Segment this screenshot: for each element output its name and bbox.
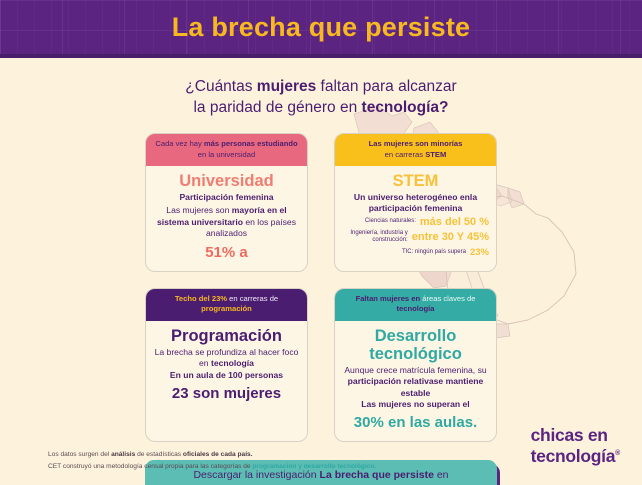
cta-text-c: en <box>434 469 449 481</box>
footer-line2-a: CET construyó una metodología censal pro… <box>48 463 252 470</box>
card-programacion-stat: 23 son mujeres <box>153 384 300 403</box>
card-universidad-stat: 51% a <box>153 243 300 262</box>
card-desarrollo-head-c: tecnología <box>397 304 435 313</box>
card-universidad-head-a: Cada vez hay <box>155 139 204 148</box>
card-stem-head-a: Las mujeres son minorías <box>369 139 463 148</box>
card-universidad-text-a: Las mujeres son <box>166 205 231 215</box>
card-programacion-text-b: tecnología <box>211 358 254 368</box>
card-desarrollo-text-b: participación relativase mantiene establ… <box>348 376 484 398</box>
subtitle-line-1: ¿Cuántas mujeres faltan para alcanzar <box>0 76 642 97</box>
card-universidad: Cada vez hay más personas estudiando en … <box>145 133 308 272</box>
footer-line1-d: oficiales de cada país. <box>183 451 253 458</box>
card-stem-stat-value-1: más del 50 % <box>420 216 489 228</box>
card-stem-stat-value-3: 23% <box>470 247 489 258</box>
card-programacion: Techo del 23% en carreras de programació… <box>145 288 308 443</box>
card-stem-stat-row-1: Ciencias naturales: más del 50 % <box>342 216 489 228</box>
card-desarrollo-body: Desarrollo tecnológico Aunque crece matr… <box>335 321 496 442</box>
card-stem-stat-label-1: Ciencias naturales: <box>365 218 416 225</box>
card-programacion-head-a: Techo del 23% <box>175 294 227 303</box>
header-banner: La brecha que persiste <box>0 0 642 54</box>
page-title: La brecha que persiste <box>172 12 471 43</box>
card-universidad-header: Cada vez hay más personas estudiando en … <box>145 133 308 166</box>
card-programacion-head-c: programación <box>201 304 252 313</box>
card-desarrollo-head-a: Faltan mujeres en <box>356 294 421 303</box>
card-programacion-head-b: en carreras de <box>227 294 278 303</box>
logo-line-2: tecnología® <box>531 445 620 465</box>
logo-registered-mark: ® <box>615 450 620 457</box>
footer-line1-a: Los datos surgen del <box>48 451 111 458</box>
footer-line-1: Los datos surgen del análisis de estadís… <box>48 449 376 461</box>
card-programacion-subtitle: En un aula de 100 personas <box>153 370 300 381</box>
card-desarrollo-header: Faltan mujeres en áreas claves de tecnol… <box>334 288 497 321</box>
card-stem-stat-label-3: TIC: ningún país supera <box>402 249 466 256</box>
card-stem-stat-label-2: Ingeniería, industria y construcción: <box>342 230 408 245</box>
card-stem-body: STEM Un universo heterogéneo enla partic… <box>335 166 496 267</box>
footer-notes: Los datos surgen del análisis de estadís… <box>48 449 376 472</box>
card-desarrollo-head-b: áreas claves de <box>420 294 475 303</box>
logo-line-1: chicas en <box>531 426 620 445</box>
card-universidad-text: Las mujeres son mayoría en el sistema un… <box>153 205 300 240</box>
card-stem-subtitle: Un universo heterogéneo enla participaci… <box>342 192 489 214</box>
card-desarrollo-subtitle: Las mujeres no superan el <box>342 399 489 410</box>
footer-line1-c: de estadísticas <box>135 451 183 458</box>
card-desarrollo-text: Aunque crece matrícula femenina, su part… <box>342 365 489 400</box>
card-stem-stat-row-3: TIC: ningún país supera 23% <box>342 247 489 258</box>
card-universidad-head-c: en la universidad <box>198 150 255 159</box>
subtitle-text-a: ¿Cuántas <box>185 78 257 95</box>
card-universidad-subtitle: Participación femenina <box>153 192 300 203</box>
header-divider <box>0 54 642 58</box>
card-desarrollo-title: Desarrollo tecnológico <box>342 327 489 363</box>
subtitle-line-2: la paridad de género en tecnología? <box>0 97 642 118</box>
stat-cards-grid: Cada vez hay más personas estudiando en … <box>145 133 497 442</box>
card-stem-head-c: STEM <box>425 150 446 159</box>
subtitle-emphasis-mujeres: mujeres <box>257 78 316 95</box>
card-programacion-title: Programación <box>153 327 300 345</box>
footer-line1-b: análisis <box>111 451 135 458</box>
card-stem-stat-value-2: entre 30 Y 45% <box>412 231 489 243</box>
subtitle: ¿Cuántas mujeres faltan para alcanzar la… <box>0 76 642 118</box>
card-universidad-title: Universidad <box>153 172 300 190</box>
card-programacion-header: Techo del 23% en carreras de programació… <box>145 288 308 321</box>
chicas-en-tecnologia-logo: chicas en tecnología® <box>531 426 620 465</box>
card-programacion-body: Programación La brecha se profundiza al … <box>146 321 307 412</box>
infographic-page: La brecha que persiste <box>0 0 642 485</box>
card-stem-stat-row-2: Ingeniería, industria y construcción: en… <box>342 230 489 245</box>
card-programacion-text: La brecha se profundiza al hacer foco en… <box>153 347 300 370</box>
card-stem-head-b: en carreras <box>385 150 426 159</box>
card-universidad-body: Universidad Participación femenina Las m… <box>146 166 307 271</box>
logo-line-2-text: tecnología <box>531 446 616 466</box>
card-stem-title: STEM <box>342 172 489 190</box>
card-desarrollo-text-a: Aunque crece matrícula femenina, su <box>344 365 486 375</box>
footer-line2-b: programación y desarrollo tecnológico. <box>252 463 376 470</box>
card-stem-header: Las mujeres son minorías en carreras STE… <box>334 133 497 166</box>
card-universidad-head-b: más personas estudiando <box>204 139 298 148</box>
card-desarrollo-tecnologico: Faltan mujeres en áreas claves de tecnol… <box>334 288 497 443</box>
footer-line-2: CET construyó una metodología censal pro… <box>48 461 376 473</box>
card-stem: Las mujeres son minorías en carreras STE… <box>334 133 497 272</box>
subtitle-emphasis-tecnologia: tecnología? <box>362 99 449 116</box>
card-desarrollo-stat: 30% en las aulas. <box>342 413 489 432</box>
subtitle-text-d: la paridad de género en <box>193 99 361 116</box>
subtitle-text-c: faltan para alcanzar <box>316 78 456 95</box>
